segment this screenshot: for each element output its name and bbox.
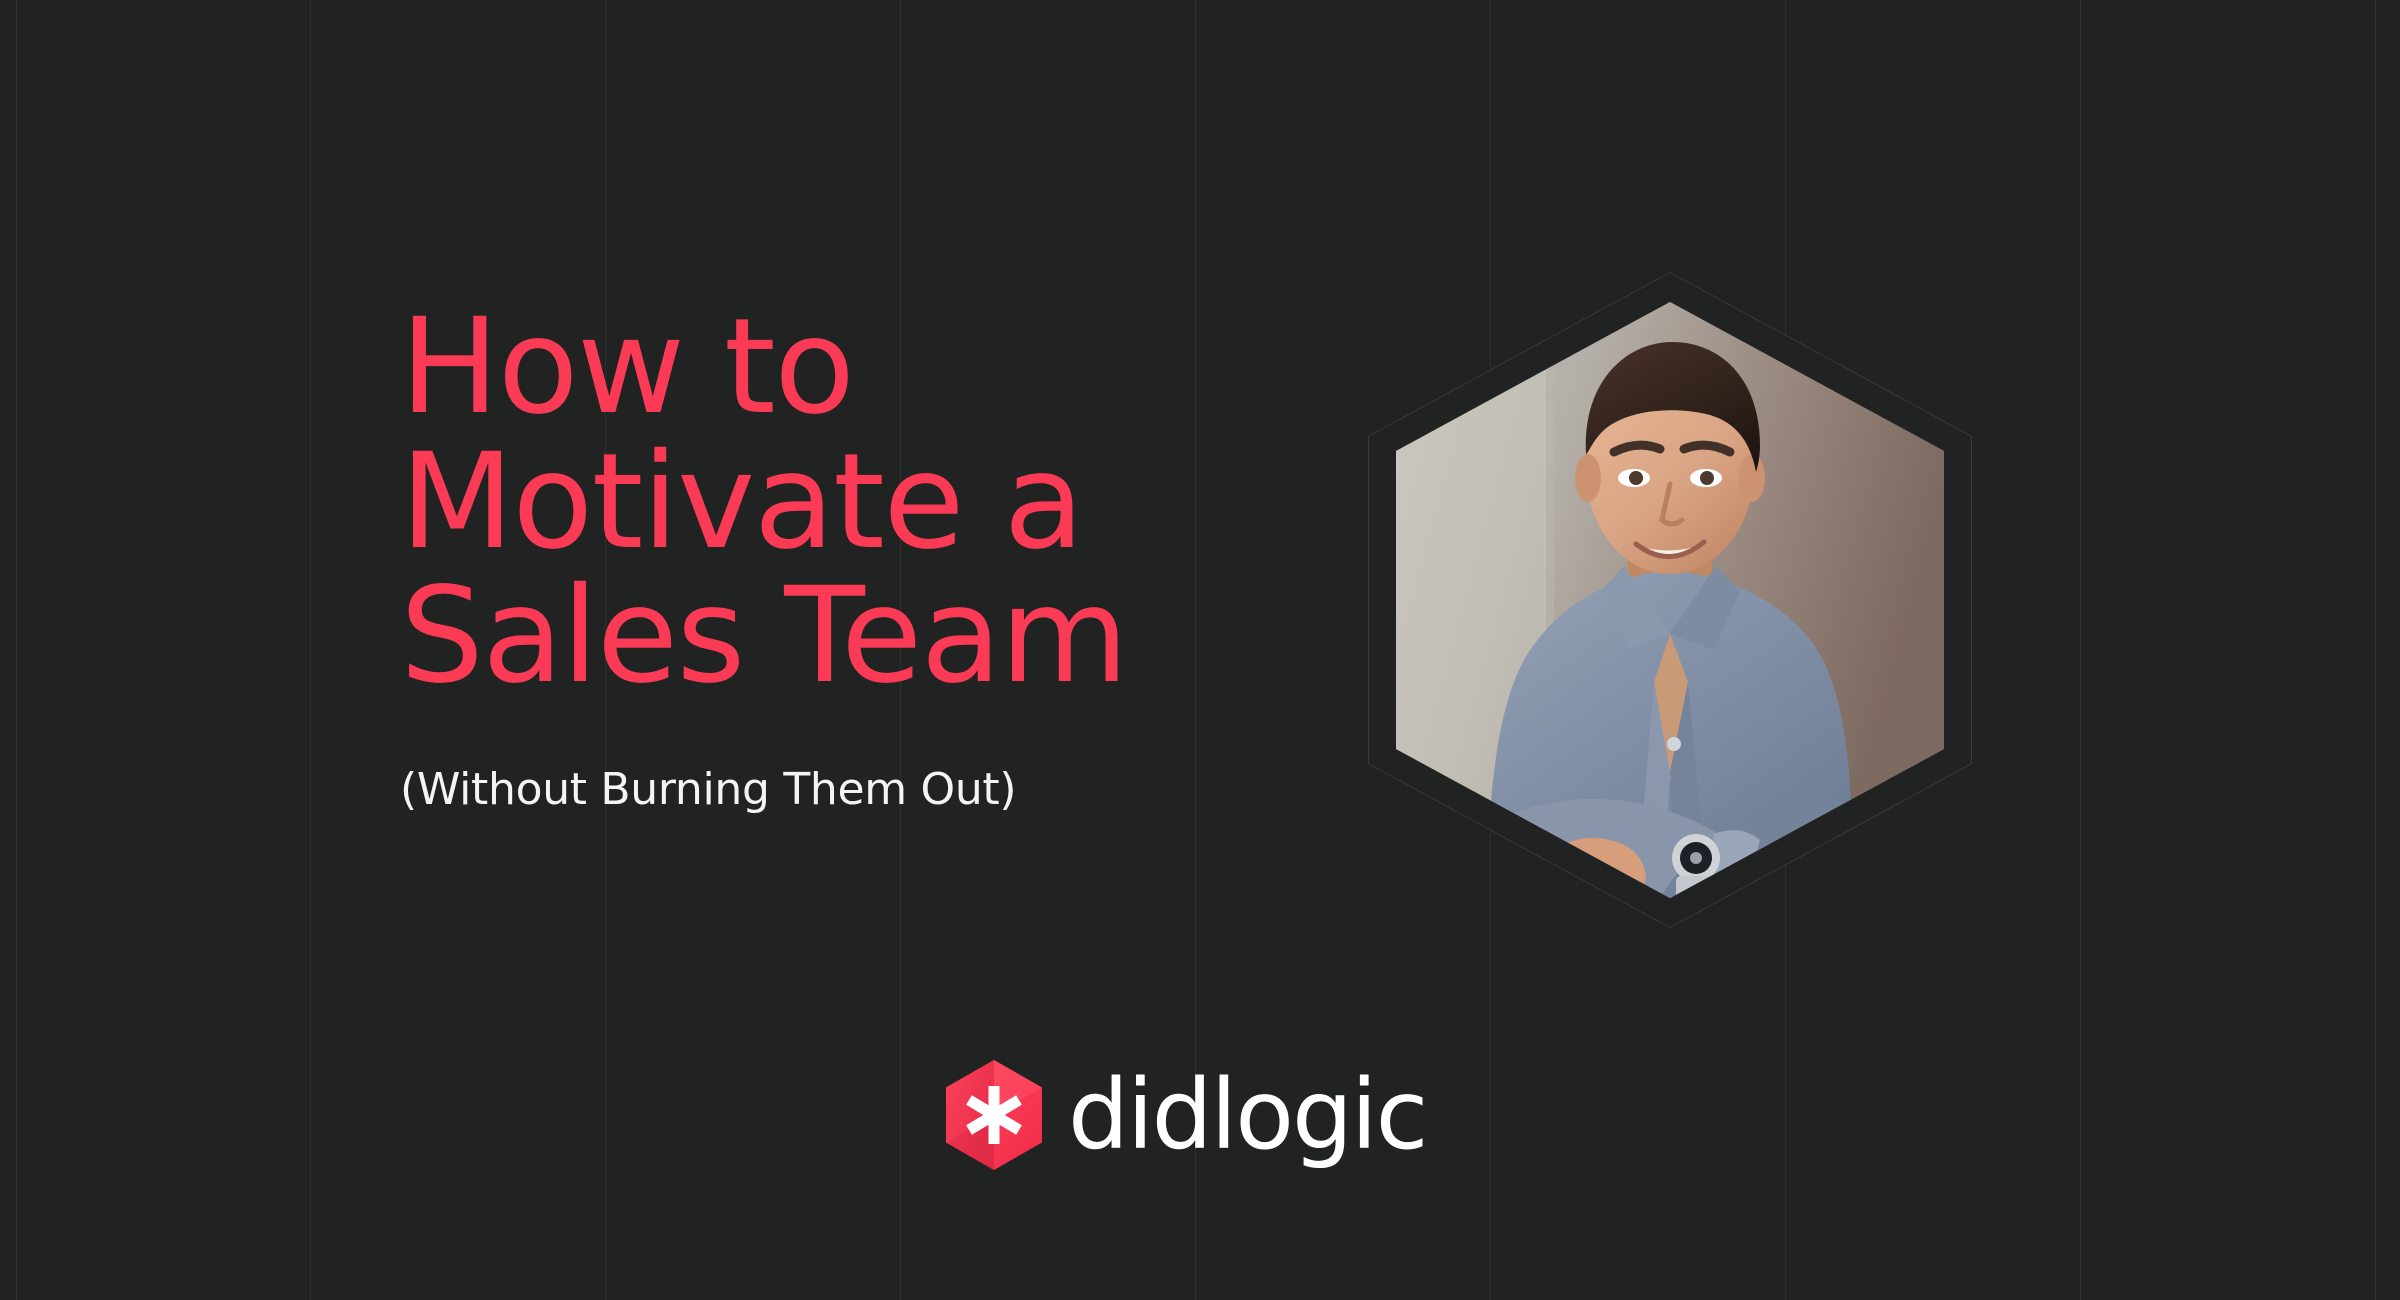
hero-text-block: How to Motivate a Sales Team (Without Bu… (400, 300, 1340, 814)
brand-logo[interactable]: didlogic (946, 1060, 1426, 1170)
page-title: How to Motivate a Sales Team (400, 300, 1340, 704)
brand-wordmark: didlogic (1068, 1067, 1426, 1163)
page-subtitle: (Without Burning Them Out) (400, 704, 1340, 814)
grid-line (2080, 0, 2081, 1300)
promo-banner: How to Motivate a Sales Team (Without Bu… (0, 0, 2400, 1300)
grid-line (16, 0, 17, 1300)
portrait-frame (1368, 272, 1972, 928)
grid-line (2375, 0, 2376, 1300)
didlogic-hexagon-icon (946, 1060, 1042, 1170)
grid-line (310, 0, 311, 1300)
